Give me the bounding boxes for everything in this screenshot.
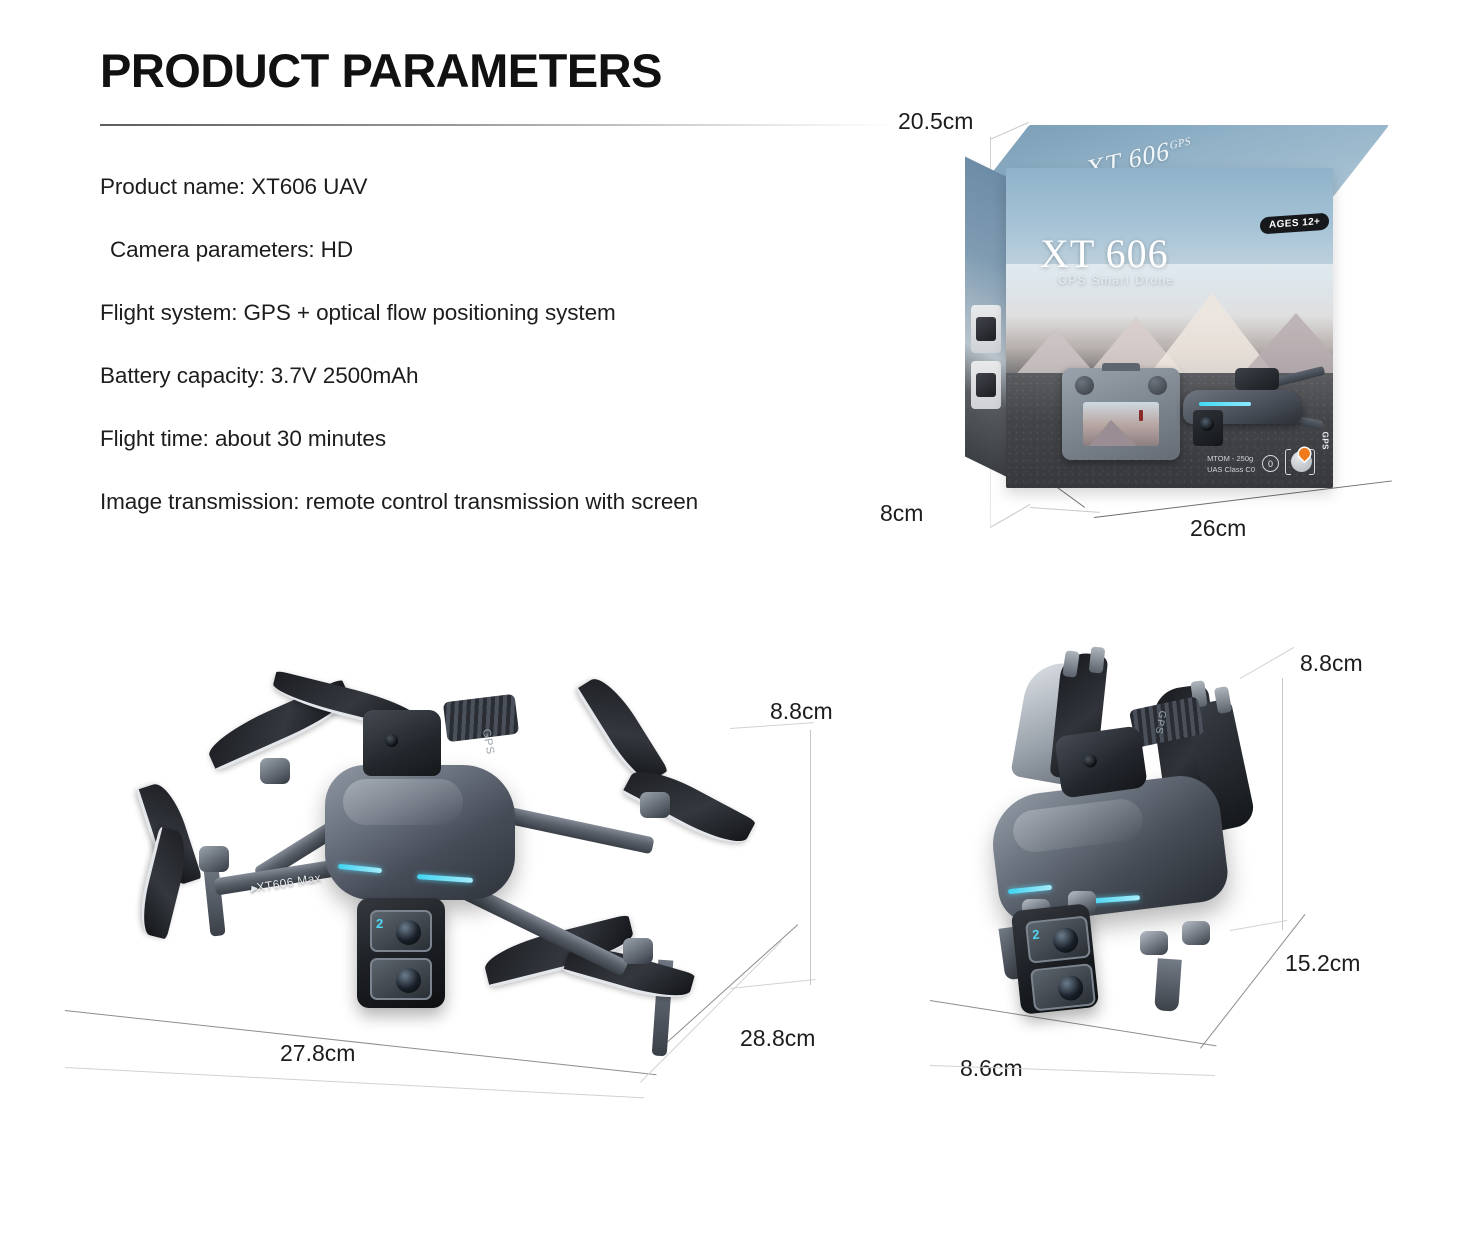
controller-left-stick bbox=[1075, 376, 1094, 395]
gps-badge: GPS bbox=[1285, 448, 1327, 476]
package-width-label: 26cm bbox=[1190, 515, 1246, 542]
package-depth-label: 8cm bbox=[880, 500, 923, 527]
folded-drone-motor bbox=[1140, 931, 1168, 955]
page-title: PRODUCT PARAMETERS bbox=[100, 43, 662, 98]
drone-camera-badge: 2 bbox=[376, 916, 383, 931]
unfolded-height-label: 8.8cm bbox=[770, 698, 833, 725]
folded-drone-camera-gimbal: 2 bbox=[1011, 903, 1099, 1015]
folded-drone-dimension-figure: 8.8cm 8.6cm 15.2cm GPS 2 bbox=[900, 600, 1440, 1160]
package-front-face: XT 606 GPS Smart Drone AGES 12+ MTOM - 2… bbox=[1006, 168, 1333, 488]
controller-right-stick bbox=[1148, 376, 1167, 395]
folded-drone-illustration: GPS 2 bbox=[960, 645, 1290, 1025]
package-drone-camera bbox=[1193, 410, 1223, 446]
unfolded-ground-edge bbox=[65, 1067, 644, 1098]
ages-badge: AGES 12+ bbox=[1260, 213, 1329, 235]
drone-camera-gimbal: 2 bbox=[357, 898, 445, 1008]
drone-motor bbox=[623, 938, 653, 964]
package-compliance-note: MTOM - 250g UAS Class C0 bbox=[1207, 454, 1255, 476]
title-divider bbox=[100, 124, 895, 126]
package-brand-subtitle: GPS Smart Drone bbox=[1058, 275, 1175, 287]
package-drone-arm bbox=[1273, 366, 1326, 387]
spec-row-battery-capacity: Battery capacity: 3.7V 2500mAh bbox=[100, 344, 900, 407]
package-drone-gimbal bbox=[1235, 368, 1279, 390]
drone-landing-leg bbox=[203, 865, 225, 936]
package-top-brand-sup: GPS bbox=[1170, 135, 1191, 152]
drone-motor bbox=[260, 758, 290, 784]
spec-row-flight-system: Flight system: GPS + optical flow positi… bbox=[100, 281, 900, 344]
product-package-illustration: XT 606GPS XT 606 GPS Smart Drone AGES 12… bbox=[965, 125, 1395, 515]
unfolded-height-guide bbox=[810, 730, 811, 985]
drone-motor bbox=[199, 846, 229, 872]
spec-row-camera-parameters: Camera parameters: HD bbox=[100, 218, 900, 281]
propeller-blade bbox=[575, 670, 668, 789]
remote-controller-illustration bbox=[1062, 368, 1180, 460]
unfolded-drone-illustration: ▸XT606 Max GPS 2 bbox=[95, 670, 755, 1070]
package-mtom-text: MTOM - 250g bbox=[1207, 454, 1255, 465]
uas-class-mark: 0 bbox=[1262, 455, 1279, 472]
package-brand-title: XT 606 bbox=[1040, 230, 1169, 277]
folded-height-label: 8.8cm bbox=[1300, 650, 1363, 677]
package-thumbnail-bottom bbox=[971, 361, 1001, 409]
gps-badge-label: GPS bbox=[1320, 432, 1329, 450]
spec-row-product-name: Product name: XT606 UAV bbox=[100, 155, 900, 218]
package-thumbnail-top bbox=[971, 305, 1001, 353]
folded-motor-stub bbox=[1089, 646, 1106, 673]
folded-drone-landing-leg bbox=[1154, 958, 1182, 1012]
package-height-label: 20.5cm bbox=[898, 108, 973, 135]
controller-screen bbox=[1083, 402, 1159, 446]
folded-drone-top-sensor-module bbox=[1054, 725, 1148, 798]
package-drone-led bbox=[1199, 402, 1251, 406]
spec-row-flight-time: Flight time: about 30 minutes bbox=[100, 407, 900, 470]
package-dimension-figure: 20.5cm 8cm 26cm XT 606GPS XT 606 GPS Sma… bbox=[880, 95, 1420, 565]
spec-row-image-transmission: Image transmission: remote control trans… bbox=[100, 470, 900, 533]
package-uas-class-text: UAS Class C0 bbox=[1207, 465, 1255, 476]
folded-drone-camera-badge: 2 bbox=[1032, 927, 1041, 943]
folded-depth-label: 15.2cm bbox=[1285, 950, 1360, 977]
drone-motor bbox=[640, 792, 670, 818]
controller-antenna bbox=[1102, 363, 1140, 371]
drone-body bbox=[325, 765, 515, 900]
drone-camera-lens-lower bbox=[370, 958, 432, 1000]
specification-list: Product name: XT606 UAV Camera parameter… bbox=[100, 155, 900, 533]
unfolded-drone-dimension-figure: 8.8cm 27.8cm 28.8cm ▸XT606 Max GPS bbox=[40, 630, 870, 1160]
drone-top-sensor-module bbox=[363, 710, 441, 776]
folded-drone-motor bbox=[1182, 921, 1210, 945]
package-drone-illustration bbox=[1177, 358, 1327, 458]
folded-drone-camera-lens-lower bbox=[1030, 963, 1096, 1011]
